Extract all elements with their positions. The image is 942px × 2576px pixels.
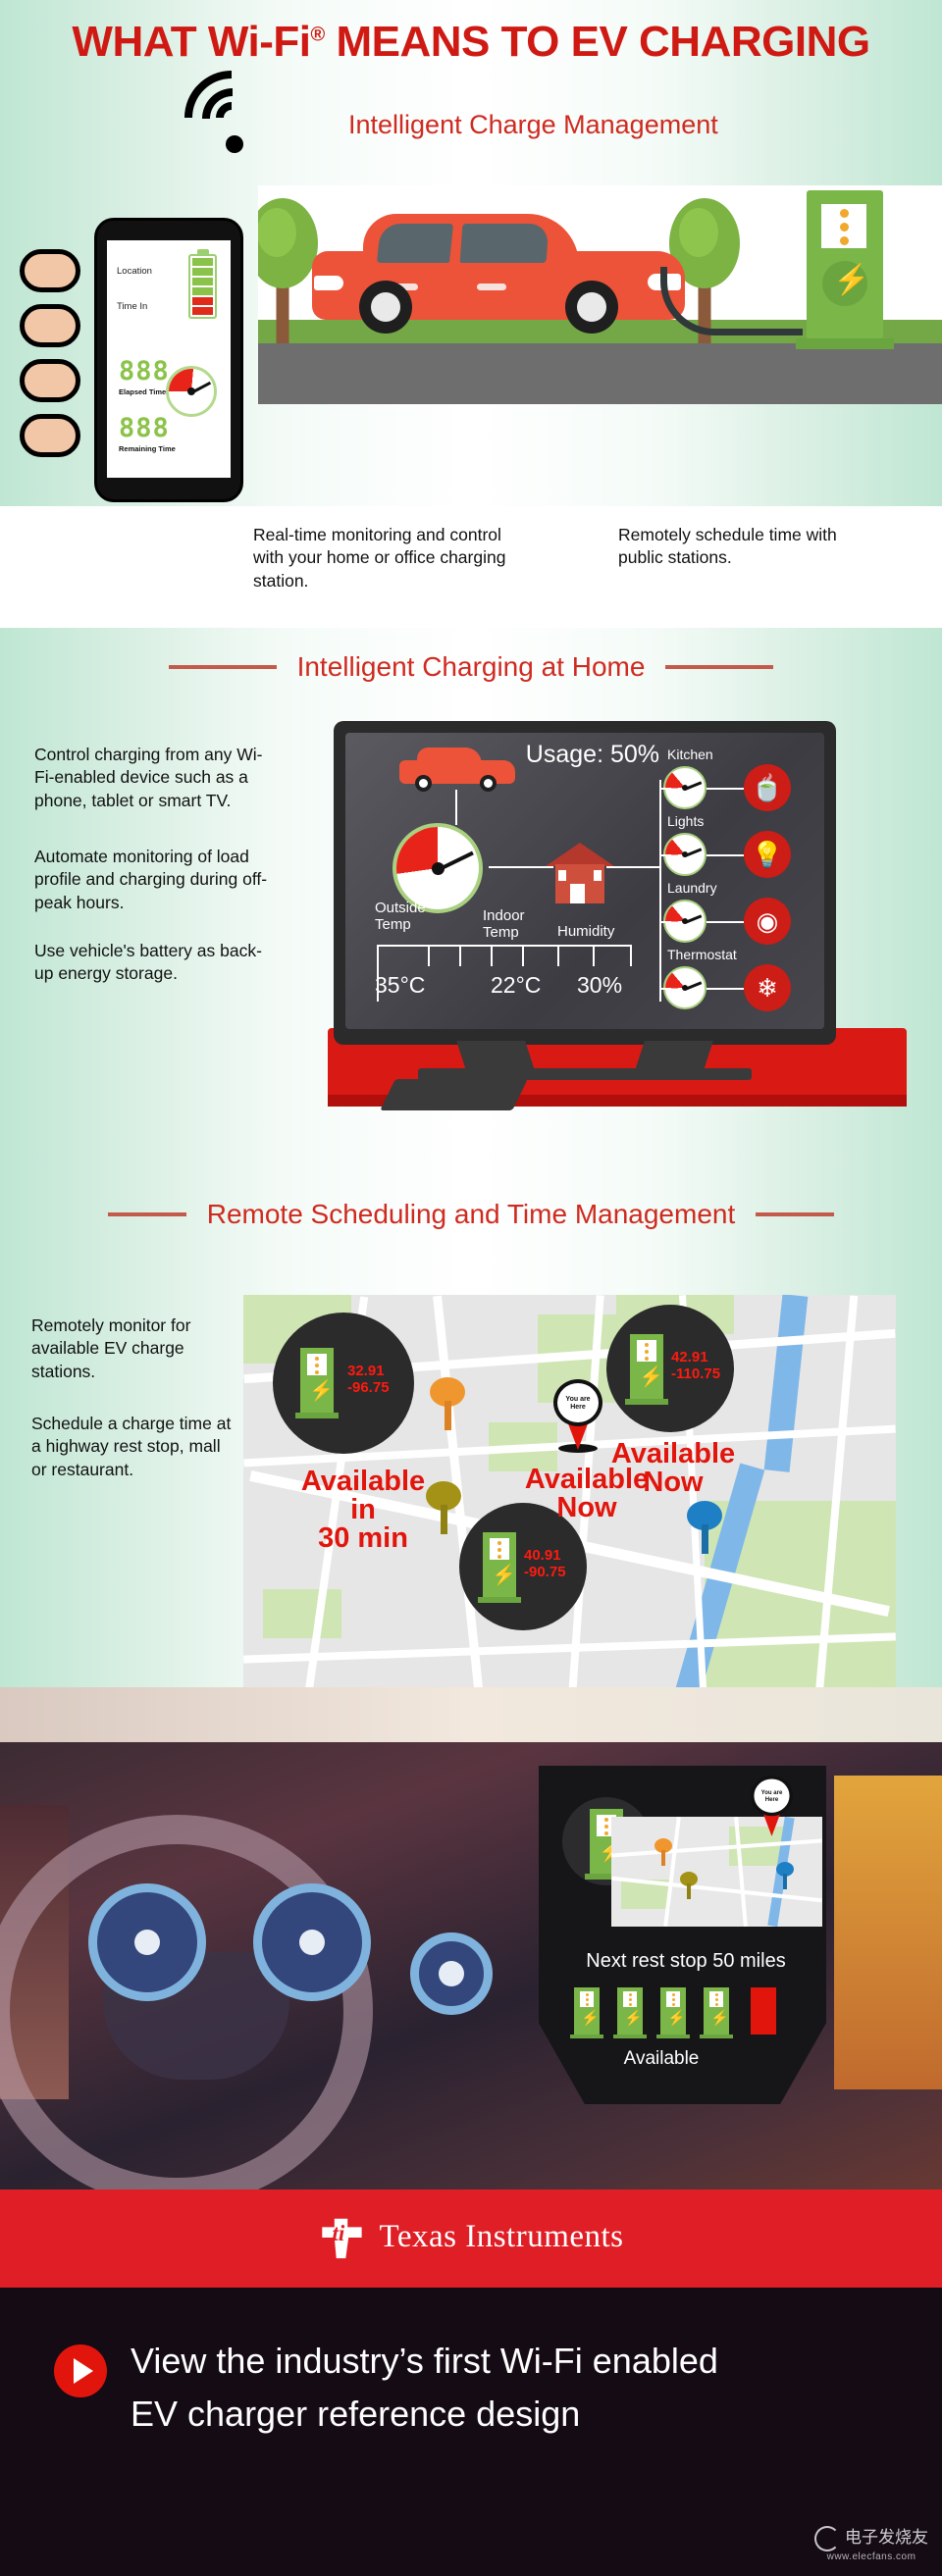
- watermark-logo-icon: [814, 2526, 840, 2551]
- smart-tv[interactable]: Usage: 50%: [334, 721, 836, 1045]
- charging-station-icon: ⚡: [630, 1334, 663, 1399]
- ti-wordmark: Texas Instruments: [379, 2219, 623, 2255]
- availability-label-3: Available Now: [489, 1466, 685, 1522]
- metric-value-indoor-temp: 22°C: [491, 972, 541, 999]
- washing-machine-icon[interactable]: ◉: [744, 898, 791, 945]
- cta-line-2: EV charger reference design: [131, 2388, 896, 2441]
- watermark: 电子发烧友 www.elecfans.com: [814, 2523, 928, 2562]
- heading-rule-left: [169, 665, 277, 669]
- station-slot-free[interactable]: ⚡: [617, 1987, 643, 2035]
- station-slot-row: ⚡ ⚡ ⚡ ⚡: [574, 1987, 790, 2038]
- remote-paragraph-2: Schedule a charge time at a highway rest…: [31, 1413, 233, 1481]
- appliance-label-laundry: Laundry: [667, 880, 717, 896]
- heading-rule-right: [756, 1212, 834, 1216]
- remaining-time-value: 888: [119, 413, 170, 443]
- smartphone[interactable]: Location Time In 888 Elapsed Time 888 Re…: [94, 218, 243, 502]
- home-heading-text: Intelligent Charging at Home: [282, 651, 661, 683]
- rest-stop-text: Next rest stop 50 miles: [549, 1950, 823, 1973]
- infotainment-console[interactable]: ⚡ You are Here Next rest stop 50: [539, 1766, 826, 2104]
- station-marker-1[interactable]: ⚡ 32.91 -96.75: [273, 1313, 414, 1454]
- tv-screen[interactable]: Usage: 50%: [345, 733, 824, 1029]
- remote-scheduling-section: Remote Scheduling and Time Management Re…: [0, 1177, 942, 1712]
- home-charging-section: Intelligent Charging at Home Control cha…: [0, 628, 942, 1177]
- station-slot-free[interactable]: ⚡: [704, 1987, 729, 2035]
- you-are-here-pin[interactable]: You are Here: [553, 1379, 602, 1450]
- texas-instruments-logo[interactable]: Texas Instruments: [318, 2213, 623, 2260]
- heading-rule-right: [665, 665, 773, 669]
- hero-caption-left: Real-time monitoring and control with yo…: [253, 524, 533, 592]
- you-are-here-label: You are Here: [751, 1776, 793, 1816]
- remote-paragraph-1: Remotely monitor for available EV charge…: [31, 1314, 228, 1383]
- hero-caption-right: Remotely schedule time with public stati…: [618, 524, 863, 570]
- map-pin-blue[interactable]: [687, 1501, 722, 1554]
- appliance-bus-line: [659, 780, 661, 1002]
- phone-time-in-label: Time In: [117, 301, 147, 312]
- metric-value-outside-temp: 35°C: [375, 972, 425, 999]
- kettle-icon[interactable]: 🍵: [744, 764, 791, 811]
- station-slot-free[interactable]: ⚡: [660, 1987, 686, 2035]
- map-pin-orange[interactable]: [430, 1377, 465, 1430]
- tv-remote[interactable]: [380, 1079, 528, 1110]
- station-slot-free[interactable]: ⚡: [574, 1987, 600, 2035]
- heading-rule-left: [108, 1212, 186, 1216]
- station-slot-occupied[interactable]: [751, 1987, 776, 2035]
- remote-section-heading: Remote Scheduling and Time Management: [0, 1199, 942, 1230]
- metric-value-humidity: 30%: [577, 972, 622, 999]
- remaining-time-label: Remaining Time: [119, 444, 176, 453]
- ti-texas-mark-icon: [318, 2213, 365, 2260]
- map-pin-olive: [680, 1872, 698, 1899]
- call-to-action-section[interactable]: View the industry’s first Wi-Fi enabled …: [0, 2288, 942, 2576]
- charge-gauge-icon: [166, 366, 217, 417]
- wifi-icon: [184, 71, 292, 169]
- station-lon-1: -96.75: [347, 1380, 390, 1397]
- battery-icon: [188, 254, 217, 319]
- page-title-part2: MEANS TO EV CHARGING: [325, 18, 870, 66]
- remote-heading-text: Remote Scheduling and Time Management: [191, 1199, 752, 1230]
- watermark-cn: 电子发烧友: [845, 2528, 928, 2548]
- you-are-here-pin: You are Here: [751, 1776, 784, 1827]
- charging-station-icon: ⚡: [483, 1532, 516, 1597]
- home-section-heading: Intelligent Charging at Home: [0, 651, 942, 683]
- home-paragraph-3: Use vehicle's battery as back-up energy …: [34, 940, 275, 986]
- appliance-label-thermostat: Thermostat: [667, 947, 737, 962]
- map-pin-blue: [776, 1862, 794, 1889]
- station-lat-1: 32.91: [347, 1364, 390, 1380]
- cta-line-1: View the industry’s first Wi-Fi enabled: [131, 2335, 896, 2388]
- map-pin-orange: [654, 1838, 672, 1866]
- page-header: WHAT Wi-Fi® MEANS TO EV CHARGING: [0, 0, 942, 98]
- door-panel-right: [834, 1776, 942, 2089]
- charging-cable: [660, 267, 803, 335]
- console-available-label: Available: [549, 2048, 774, 2070]
- charging-station-icon: ⚡: [300, 1348, 334, 1413]
- elapsed-time-label: Elapsed Time: [119, 387, 166, 396]
- appliance-label-lights: Lights: [667, 813, 704, 829]
- fuel-dial: [410, 1932, 493, 2015]
- metric-label-indoor-temp: Indoor Temp: [483, 907, 551, 941]
- you-are-here-label: You are Here: [553, 1379, 602, 1426]
- house-icon: [551, 843, 608, 903]
- map-pin-olive[interactable]: [426, 1481, 461, 1534]
- phone-location-label: Location: [117, 266, 152, 277]
- wifi-icon: [724, 185, 812, 191]
- console-map[interactable]: [611, 1817, 822, 1927]
- station-marker-2[interactable]: ⚡ 42.91 -110.75: [606, 1305, 734, 1432]
- lightbulb-icon[interactable]: 💡: [744, 831, 791, 878]
- metric-label-outside-temp: Outside Temp: [375, 900, 449, 933]
- usage-label: Usage: 50%: [526, 741, 659, 769]
- station-lon-3: -90.75: [524, 1565, 566, 1581]
- home-paragraph-2: Automate monitoring of load profile and …: [34, 846, 280, 914]
- home-paragraph-1: Control charging from any Wi-Fi-enabled …: [34, 744, 270, 812]
- cta-text: View the industry’s first Wi-Fi enabled …: [131, 2335, 896, 2441]
- ev-charging-illustration: [258, 185, 942, 404]
- phone-screen[interactable]: Location Time In 888 Elapsed Time 888 Re…: [107, 240, 231, 478]
- refrigerator-icon[interactable]: ❄: [744, 964, 791, 1011]
- watermark-url: www.elecfans.com: [814, 2551, 928, 2562]
- station-lon-2: -110.75: [671, 1366, 720, 1383]
- play-button-icon[interactable]: [54, 2344, 107, 2397]
- station-lat-2: 42.91: [671, 1350, 720, 1366]
- charging-station-icon: [807, 190, 883, 339]
- metric-label-humidity: Humidity: [557, 923, 636, 940]
- tachometer-dial: [253, 1883, 371, 2001]
- ti-footer: Texas Instruments: [0, 2190, 942, 2288]
- appliance-label-kitchen: Kitchen: [667, 747, 713, 762]
- electric-car-icon: [312, 218, 685, 334]
- page-title-part1: WHAT Wi-Fi: [72, 18, 310, 66]
- hero-subtitle: Intelligent Charge Management: [348, 110, 898, 140]
- connector-line: [489, 866, 553, 868]
- ev-station-map[interactable]: ⚡ 32.91 -96.75 Available in 30 min ⚡ 42.…: [243, 1295, 896, 1707]
- page-title: WHAT Wi-Fi® MEANS TO EV CHARGING: [0, 18, 942, 67]
- tv-car-icon: [399, 750, 515, 792]
- hero-section: Intelligent Charge Management: [0, 94, 942, 506]
- elapsed-time-value: 888: [119, 356, 170, 386]
- connector-line: [455, 790, 457, 825]
- speedometer-dial: [88, 1883, 206, 2001]
- connector-line: [606, 866, 661, 868]
- station-lat-3: 40.91: [524, 1548, 566, 1565]
- registered-mark: ®: [310, 24, 324, 45]
